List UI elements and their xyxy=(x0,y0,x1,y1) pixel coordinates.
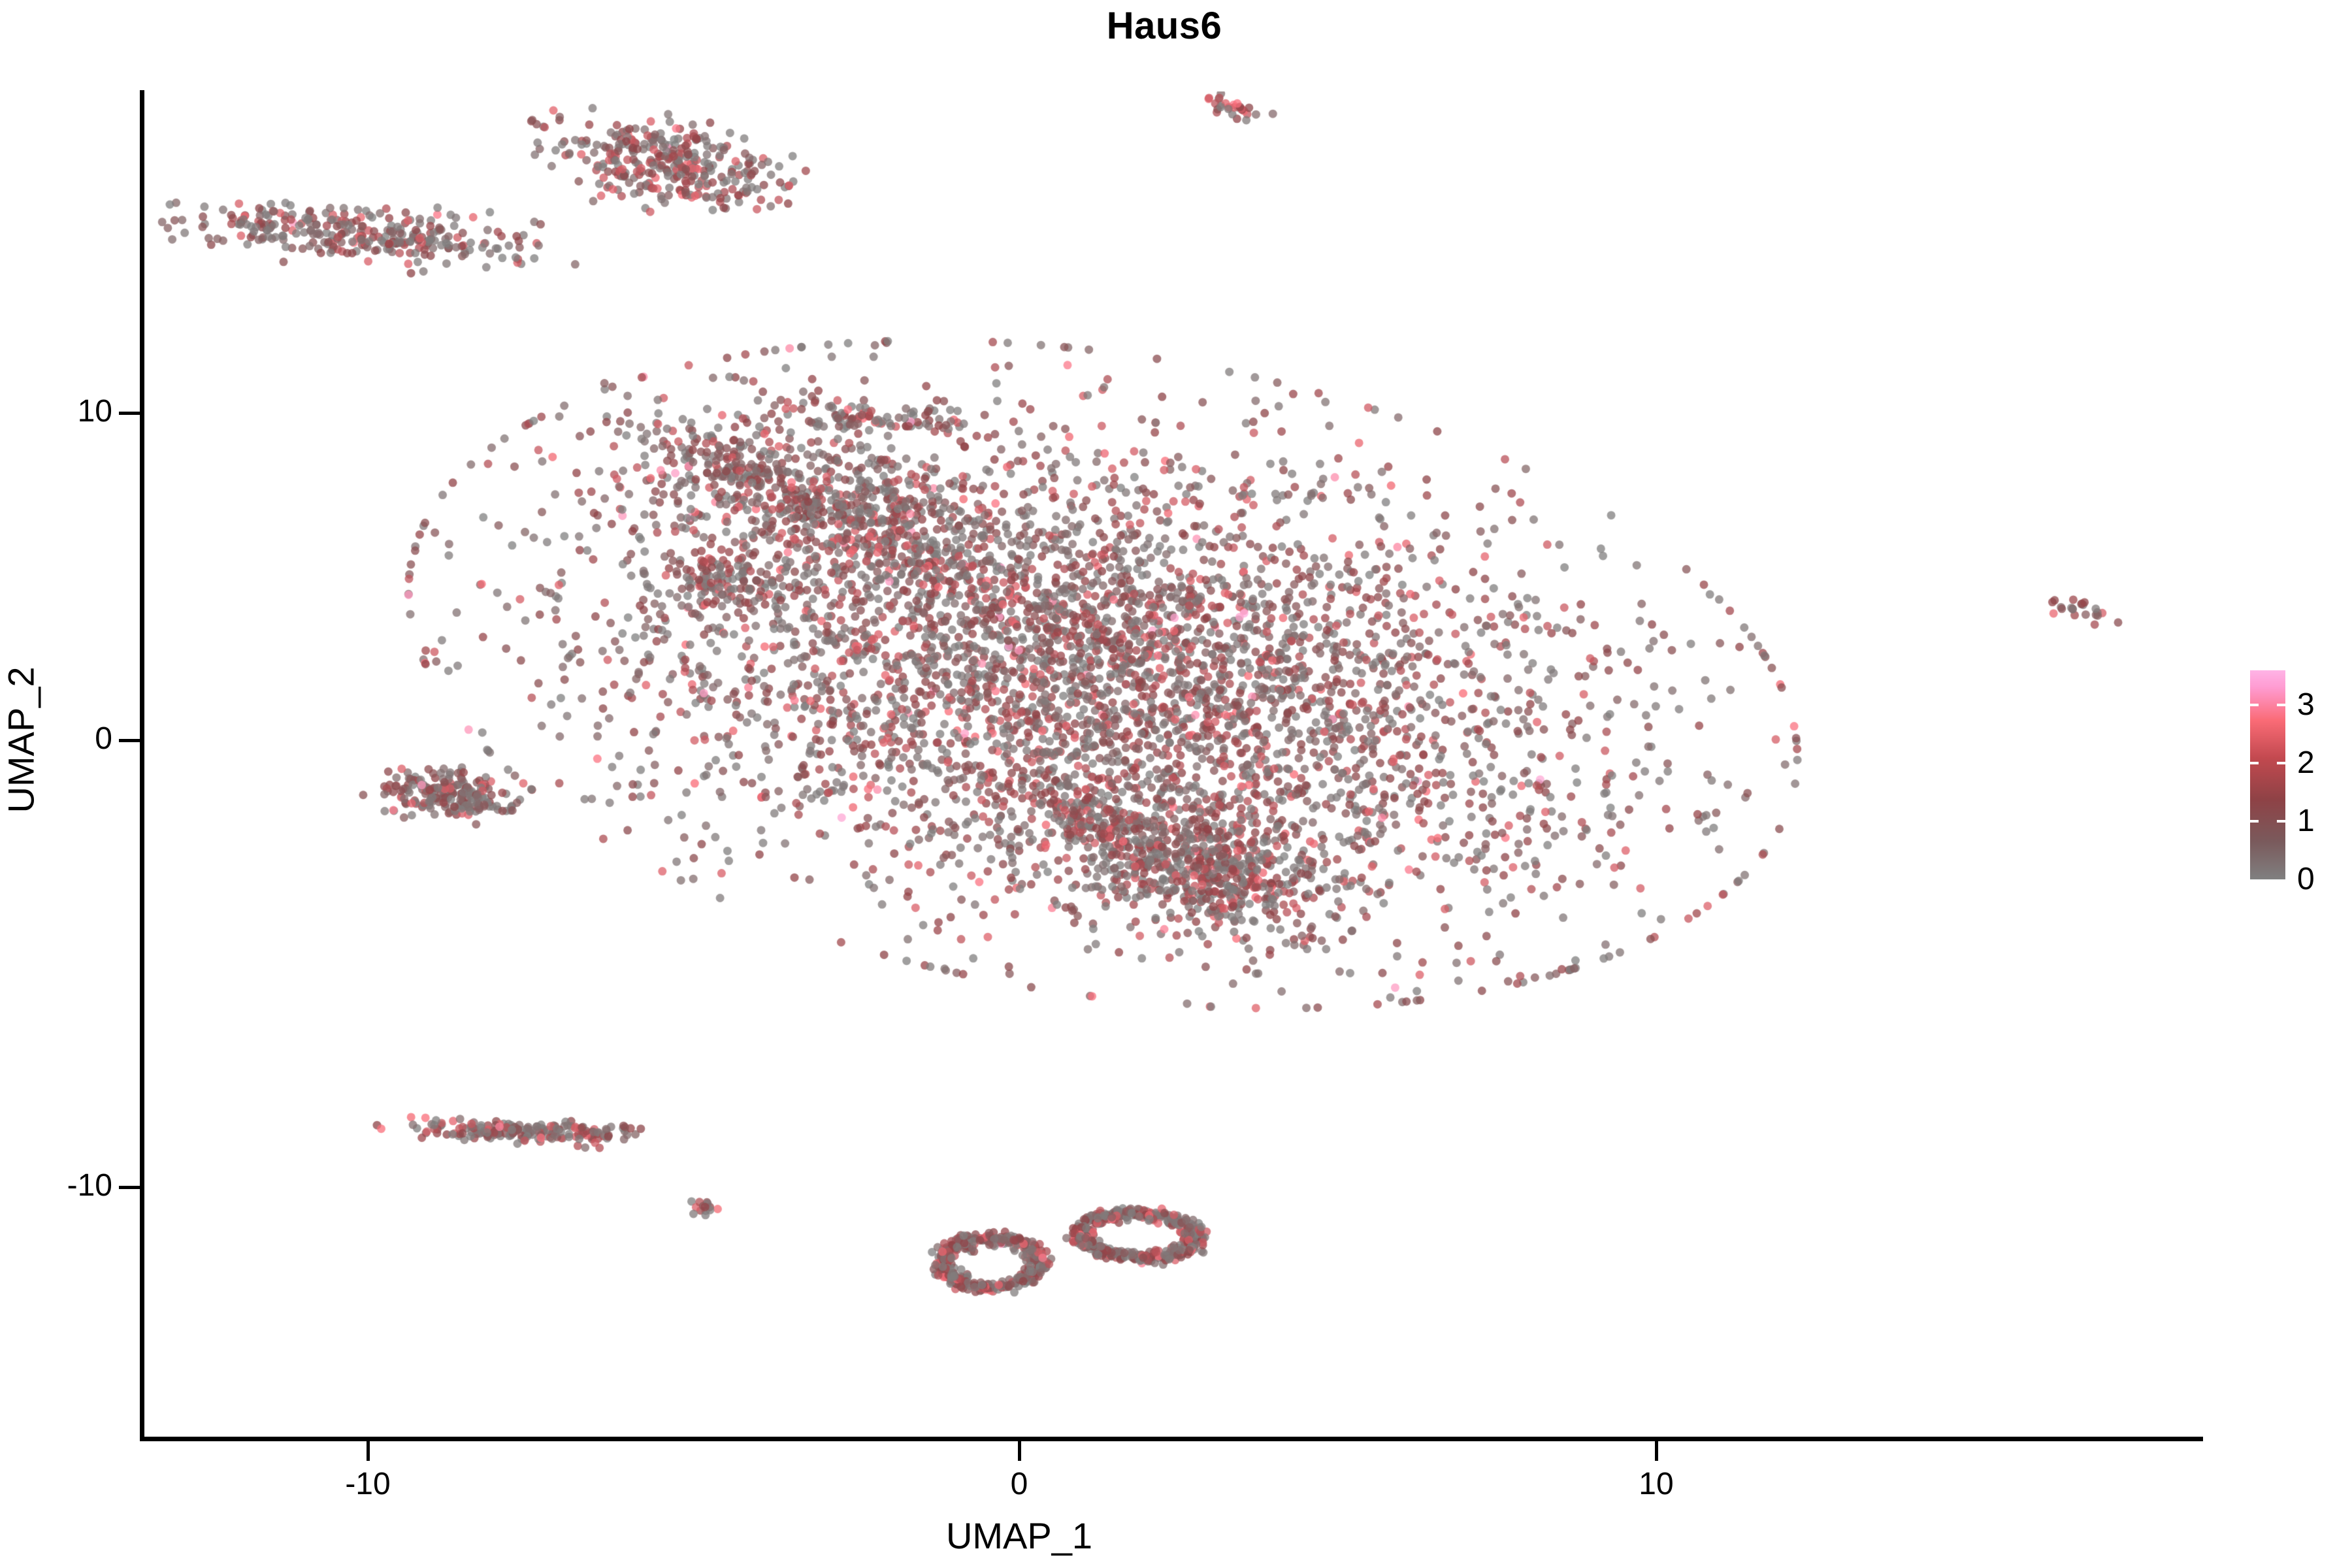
chart-root: Haus6 100-10 -10010 UMAP_2 UMAP_1 3210 xyxy=(0,0,2352,1568)
x-tick-mark xyxy=(367,1441,370,1461)
colorbar-tick-label: 3 xyxy=(2297,689,2315,721)
scatter-layer xyxy=(144,91,2203,1439)
y-tick-mark xyxy=(119,412,140,415)
x-axis-line xyxy=(140,1437,2203,1441)
colorbar-legend: 3210 xyxy=(2250,670,2342,886)
colorbar-tick-label: 2 xyxy=(2297,747,2315,779)
colorbar-tick-mark xyxy=(2250,820,2285,823)
x-tick-mark xyxy=(1655,1441,1658,1461)
colorbar-gradient xyxy=(2250,670,2285,879)
x-tick-mark xyxy=(1018,1441,1021,1461)
colorbar-tick-mark xyxy=(2250,762,2285,764)
colorbar-tick-label: 1 xyxy=(2297,806,2315,837)
page-title: Haus6 xyxy=(0,4,2334,48)
scatter-points-canvas xyxy=(144,91,2203,1439)
y-tick-mark xyxy=(119,739,140,742)
x-tick-label: 10 xyxy=(1558,1469,1754,1500)
x-tick-label: 0 xyxy=(921,1469,1117,1500)
x-axis-title: UMAP_1 xyxy=(679,1514,1359,1557)
x-tick-label: -10 xyxy=(270,1469,466,1500)
colorbar-tick-mark xyxy=(2250,704,2285,706)
y-tick-mark xyxy=(119,1186,140,1189)
y-axis-line xyxy=(140,90,144,1441)
y-tick-label: -10 xyxy=(0,1170,112,1201)
y-tick-label: 10 xyxy=(0,396,112,427)
y-axis-title: UMAP_2 xyxy=(0,544,42,936)
colorbar-tick-label: 0 xyxy=(2297,864,2315,895)
